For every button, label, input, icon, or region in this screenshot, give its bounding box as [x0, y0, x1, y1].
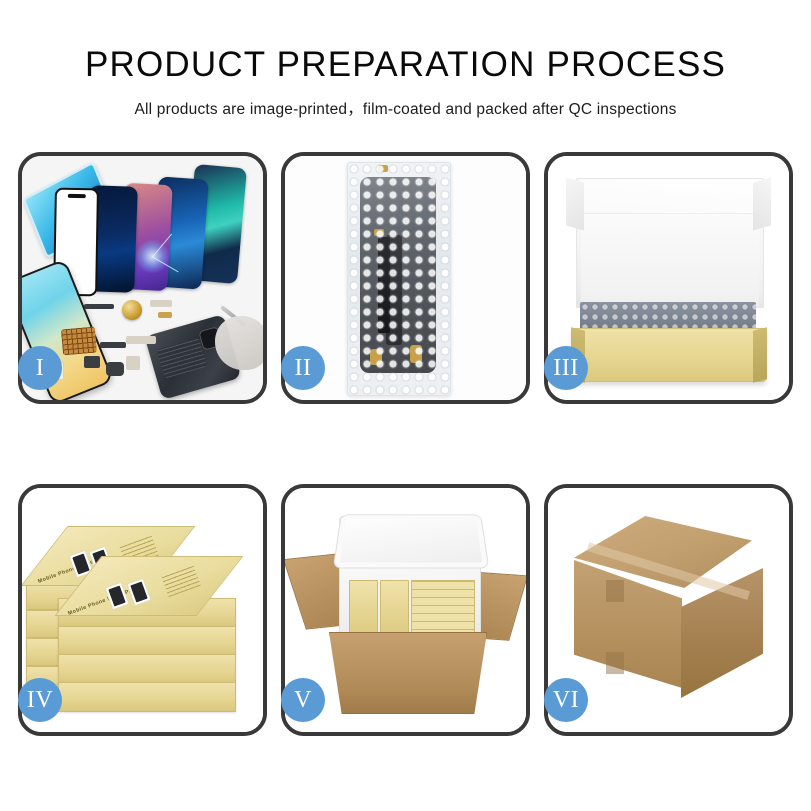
- lid-flap-right: [753, 177, 771, 230]
- white-box-lid: [576, 178, 764, 308]
- part-flex-1: [150, 300, 172, 307]
- step-card-i: I: [18, 152, 267, 404]
- part-gold-1: [158, 312, 172, 318]
- part-block-1: [84, 356, 100, 368]
- step-card-v: V: [281, 484, 530, 736]
- gold-box-item: [380, 580, 409, 636]
- connector-bottom-right: [410, 345, 422, 363]
- flex-cable-icon: [378, 237, 390, 333]
- step-badge-vi: VI: [544, 678, 588, 722]
- step-badge-iii: III: [544, 346, 588, 390]
- part-block-3: [126, 356, 140, 370]
- step-badge-i: I: [18, 346, 62, 390]
- step-card-iv: Mobile Phone Spare Parts Mobile Phone Sp…: [18, 484, 267, 736]
- stack-slab-7: [58, 654, 236, 684]
- speaker-coin-icon: [122, 300, 142, 320]
- gold-box-base: [572, 328, 766, 382]
- stack-slab-6: [58, 626, 236, 656]
- copper-mesh-icon: [61, 327, 97, 356]
- carton-front-panel: [329, 632, 487, 714]
- step-card-vi: VI: [544, 484, 793, 736]
- page-title: PRODUCT PREPARATION PROCESS: [0, 46, 811, 85]
- connector-bottom-left: [370, 349, 382, 365]
- part-flex-2: [126, 336, 156, 344]
- gold-boxes-row-right: [411, 580, 475, 638]
- foam-box-lid: [333, 514, 490, 568]
- connector-top: [378, 165, 388, 172]
- part-block-2: [106, 362, 124, 376]
- gold-box-item: [349, 580, 378, 636]
- part-strip-2: [100, 342, 126, 348]
- lcd-assembly-icon: [360, 177, 436, 373]
- lid-flap-left: [566, 177, 584, 230]
- connector-mid: [374, 229, 384, 236]
- bubble-wrap-bag: [347, 162, 451, 396]
- part-strip-1: [84, 304, 114, 309]
- step-badge-ii: II: [281, 346, 325, 390]
- stack-slab-8: [58, 682, 236, 712]
- carton-tape-patch-upper: [606, 580, 624, 602]
- carton-tape-patch-lower: [606, 652, 624, 674]
- phone-fan-group: [40, 164, 263, 294]
- process-steps-grid: I II: [18, 152, 793, 736]
- step-badge-iv: IV: [18, 678, 62, 722]
- page-subtitle: All products are image-printed，film-coat…: [0, 97, 811, 119]
- step-card-ii: II: [281, 152, 530, 404]
- product-preparation-page: PRODUCT PREPARATION PROCESS All products…: [0, 0, 811, 811]
- notch-icon: [68, 194, 86, 198]
- step-badge-v: V: [281, 678, 325, 722]
- step-card-iii: III: [544, 152, 793, 404]
- page-header: PRODUCT PREPARATION PROCESS All products…: [0, 0, 811, 119]
